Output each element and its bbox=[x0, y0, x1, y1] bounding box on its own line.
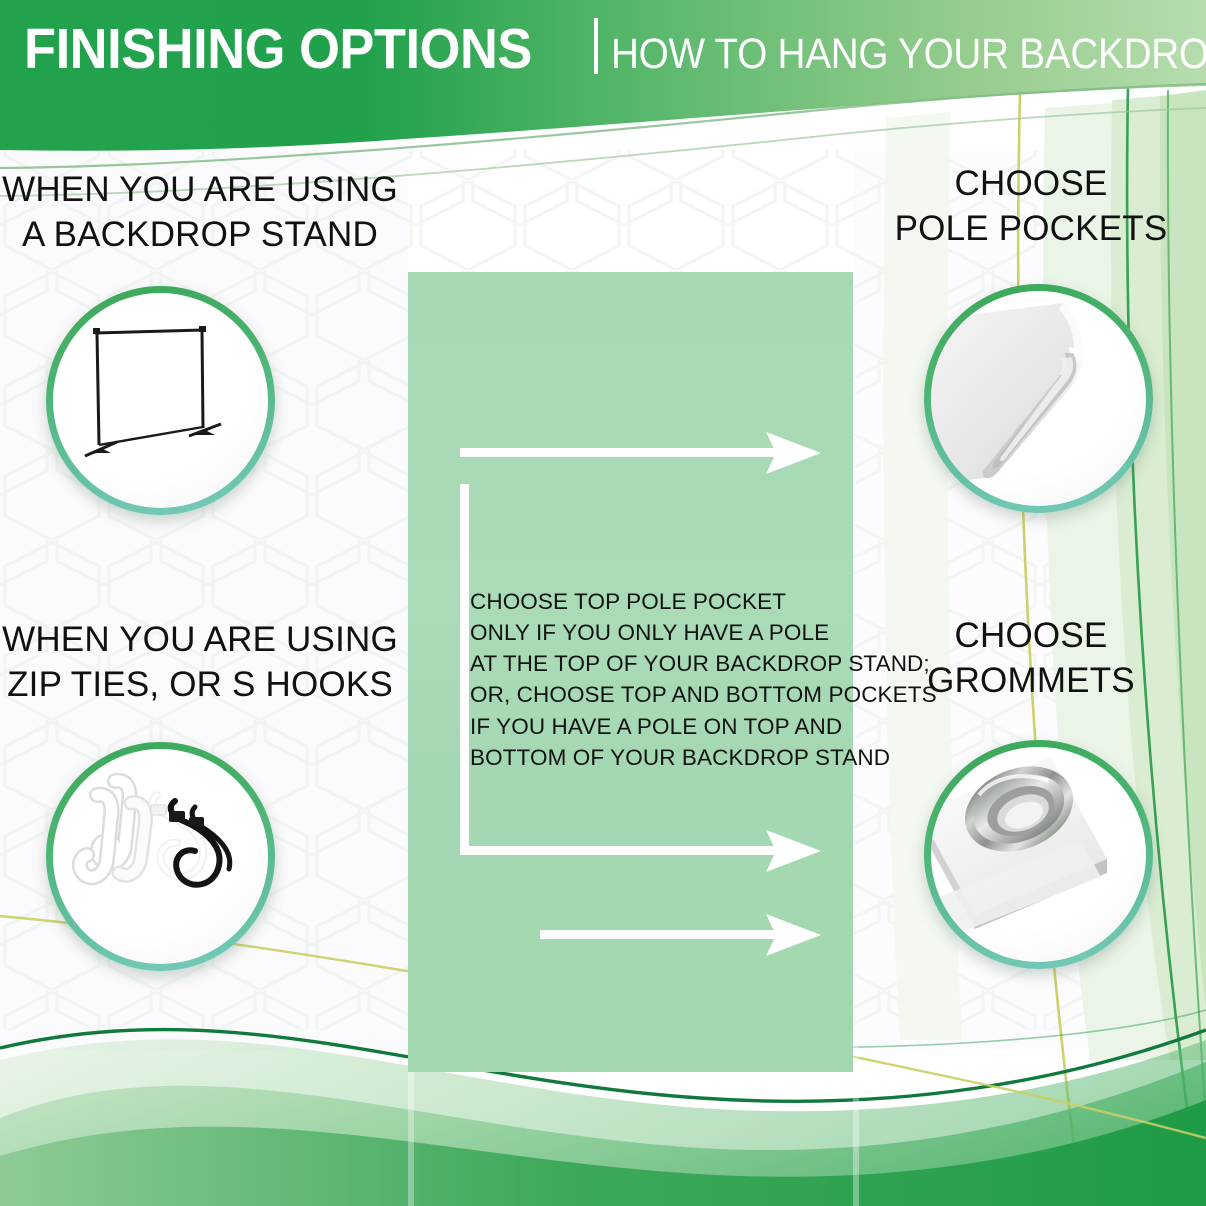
center-note-line-5: IF YOU HAVE A POLE ON TOP AND bbox=[470, 711, 860, 742]
photo-backdrop-stand bbox=[46, 286, 275, 515]
heading-pole-pockets-line-2: POLE POCKETS bbox=[856, 207, 1206, 252]
header-bar: FINISHING OPTIONS HOW TO HANG YOUR BACKD… bbox=[0, 0, 1206, 150]
center-instruction-text: CHOOSE TOP POLE POCKET ONLY IF YOU ONLY … bbox=[470, 586, 860, 773]
title-separator bbox=[594, 18, 598, 74]
heading-backdrop-stand-line-2: A BACKDROP STAND bbox=[0, 213, 400, 258]
heading-grommets-line-1: CHOOSE bbox=[856, 614, 1206, 659]
heading-pole-pockets-line-1: CHOOSE bbox=[856, 162, 1206, 207]
heading-grommets-line-2: GROMMETS bbox=[856, 659, 1206, 704]
photo-grommet bbox=[924, 740, 1153, 969]
circle-inner bbox=[53, 749, 268, 964]
center-note-line-6: BOTTOM OF YOUR BACKDROP STAND bbox=[470, 742, 860, 773]
circle-inner bbox=[53, 293, 268, 508]
heading-backdrop-stand: WHEN YOU ARE USING A BACKDROP STAND bbox=[0, 168, 400, 258]
backdrop-stand-icon bbox=[53, 293, 268, 508]
circle-inner bbox=[931, 291, 1146, 506]
heading-grommets: CHOOSE GROMMETS bbox=[856, 614, 1206, 704]
arrow-stand-to-pole-pocket bbox=[460, 432, 821, 474]
center-note-line-4: OR, CHOOSE TOP AND BOTTOM POCKETS bbox=[470, 679, 860, 710]
photo-zip-ties-s-hooks bbox=[46, 742, 275, 971]
header-title-group: FINISHING OPTIONS HOW TO HANG YOUR BACKD… bbox=[24, 12, 1206, 78]
grommet-icon bbox=[931, 747, 1146, 962]
arrow-zip-to-grommets bbox=[540, 914, 821, 956]
center-note-line-3: AT THE TOP OF YOUR BACKDROP STAND; bbox=[470, 648, 860, 679]
heading-zip-ties: WHEN YOU ARE USING ZIP TIES, OR S HOOKS bbox=[0, 618, 400, 708]
heading-zip-ties-line-1: WHEN YOU ARE USING bbox=[0, 618, 400, 663]
infographic-canvas: FINISHING OPTIONS HOW TO HANG YOUR BACKD… bbox=[0, 0, 1206, 1206]
circle-inner bbox=[931, 747, 1146, 962]
pole-pocket-icon bbox=[931, 291, 1146, 506]
page-title: FINISHING OPTIONS bbox=[24, 21, 532, 78]
center-note-line-1: CHOOSE TOP POLE POCKET bbox=[470, 586, 860, 617]
heading-zip-ties-line-2: ZIP TIES, OR S HOOKS bbox=[0, 663, 400, 708]
center-note-line-2: ONLY IF YOU ONLY HAVE A POLE bbox=[470, 617, 860, 648]
heading-pole-pockets: CHOOSE POLE POCKETS bbox=[856, 162, 1206, 252]
heading-backdrop-stand-line-1: WHEN YOU ARE USING bbox=[0, 168, 400, 213]
s-hooks-zip-ties-icon bbox=[53, 749, 268, 964]
page-subtitle: HOW TO HANG YOUR BACKDROP? bbox=[611, 33, 1206, 76]
photo-pole-pocket bbox=[924, 284, 1153, 513]
